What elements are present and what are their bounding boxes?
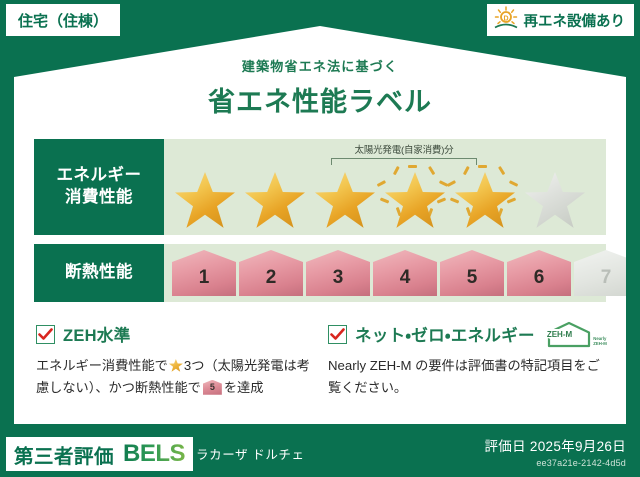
star-5-solar (452, 166, 518, 230)
nze-description: Nearly ZEH-M の要件は評価書の特記項目をご覧ください。 (328, 355, 604, 399)
title-subtitle: 建築物省エネ法に基づく (14, 56, 626, 75)
renewable-badge-label: 再エネ設備あり (524, 10, 626, 31)
renewable-equipment-badge: D 再エネ設備あり (487, 4, 635, 36)
star-icon (169, 359, 183, 372)
row-insulation-performance: 断熱性能 1 2 (34, 244, 606, 302)
star-rating (172, 166, 588, 230)
star-icon (315, 172, 375, 229)
evaluation-info: 評価日 2025年9月26日 ee37a21e-2142-4d5d (484, 435, 626, 468)
criteria-section: ZEH水準 エネルギー消費性能で3つ（太陽光発電は考慮しない）、かつ断熱性能で5… (36, 322, 604, 399)
criterion-nze-header: ネット・ゼロ・エネルギー ZEH-M Nearly ZEH-M (328, 322, 604, 346)
grade-2: 2 (239, 250, 303, 296)
row-energy-panel: 太陽光発電(自家消費)分 (164, 139, 606, 235)
house-badge-icon: 6 (507, 250, 571, 296)
label-card: 建築物省エネ法に基づく 省エネ性能ラベル エネルギー 消費性能 太陽光発電(自家… (14, 26, 626, 424)
grade-1: 1 (172, 250, 236, 296)
grade-3: 3 (306, 250, 370, 296)
svg-text:ZEH-M: ZEH-M (547, 329, 573, 338)
star-6-empty (522, 166, 588, 230)
star-outline-icon (525, 172, 585, 229)
star-2 (242, 166, 308, 230)
star-icon (245, 172, 305, 229)
house-badge-icon: 5 (203, 380, 222, 395)
solar-annotation-bracket (331, 158, 477, 165)
bels-footer-badge: 第三者評価 BELS (6, 437, 193, 471)
house-badge-icon: 5 (440, 250, 504, 296)
grade-7: 7 (574, 250, 638, 296)
insulation-grade-scale: 1 2 3 (172, 250, 638, 296)
title-block: 建築物省エネ法に基づく 省エネ性能ラベル (14, 56, 626, 119)
star-icon (175, 172, 235, 229)
zeh-checkbox[interactable] (36, 325, 55, 344)
row-energy-performance: エネルギー 消費性能 太陽光発電(自家消費)分 (34, 139, 606, 235)
star-4-solar (382, 166, 448, 230)
evaluation-id: ee37a21e-2142-4d5d (484, 458, 626, 468)
criterion-zeh-level: ZEH水準 エネルギー消費性能で3つ（太陽光発電は考慮しない）、かつ断熱性能で5… (36, 322, 312, 399)
house-badge-icon: 1 (172, 250, 236, 296)
page-title: 省エネ性能ラベル (14, 80, 626, 119)
criterion-net-zero-energy: ネット・ゼロ・エネルギー ZEH-M Nearly ZEH-M Nearl (328, 322, 604, 399)
row-energy-label: エネルギー 消費性能 (34, 139, 164, 235)
criterion-zeh-header: ZEH水準 (36, 322, 312, 346)
svg-text:D: D (503, 15, 508, 22)
building-name: ラカーザ ドルチェ (196, 444, 305, 463)
grade-4: 4 (373, 250, 437, 296)
house-badge-icon: 7 (574, 250, 638, 296)
zeh-title: ZEH水準 (63, 322, 131, 346)
bels-logo: BELS (123, 440, 185, 468)
nze-checkbox[interactable] (328, 325, 347, 344)
grade-6: 6 (507, 250, 571, 296)
row-insulation-label: 断熱性能 (34, 244, 164, 302)
solar-annotation-label: 太陽光発電(自家消費)分 (331, 142, 477, 156)
performance-rows: エネルギー 消費性能 太陽光発電(自家消費)分 (34, 139, 606, 311)
zeh-m-logo: ZEH-M Nearly ZEH-M (545, 321, 607, 348)
energy-performance-label: 住宅（住棟） D 再エネ設備あり 建築 (0, 0, 640, 477)
building-type-label: 住宅（住棟） (18, 10, 108, 31)
nze-title: ネット・ゼロ・エネルギー (355, 322, 535, 346)
row-insulation-panel: 1 2 3 (164, 244, 606, 302)
house-badge-icon: 3 (306, 250, 370, 296)
building-type-tag: 住宅（住棟） (6, 4, 120, 36)
solar-annotation: 太陽光発電(自家消費)分 (331, 142, 477, 165)
zeh-m-logo-sub: Nearly ZEH-M (593, 336, 607, 346)
house-badge-icon: 2 (239, 250, 303, 296)
zeh-description: エネルギー消費性能で3つ（太陽光発電は考慮しない）、かつ断熱性能で5を達成 (36, 355, 312, 399)
star-3 (312, 166, 378, 230)
grade-5: 5 (440, 250, 504, 296)
solar-sun-icon: D (493, 6, 519, 35)
star-1 (172, 166, 238, 230)
evaluation-date: 評価日 2025年9月26日 (484, 435, 626, 455)
third-party-label: 第三者評価 (14, 440, 114, 469)
house-badge-icon: 4 (373, 250, 437, 296)
